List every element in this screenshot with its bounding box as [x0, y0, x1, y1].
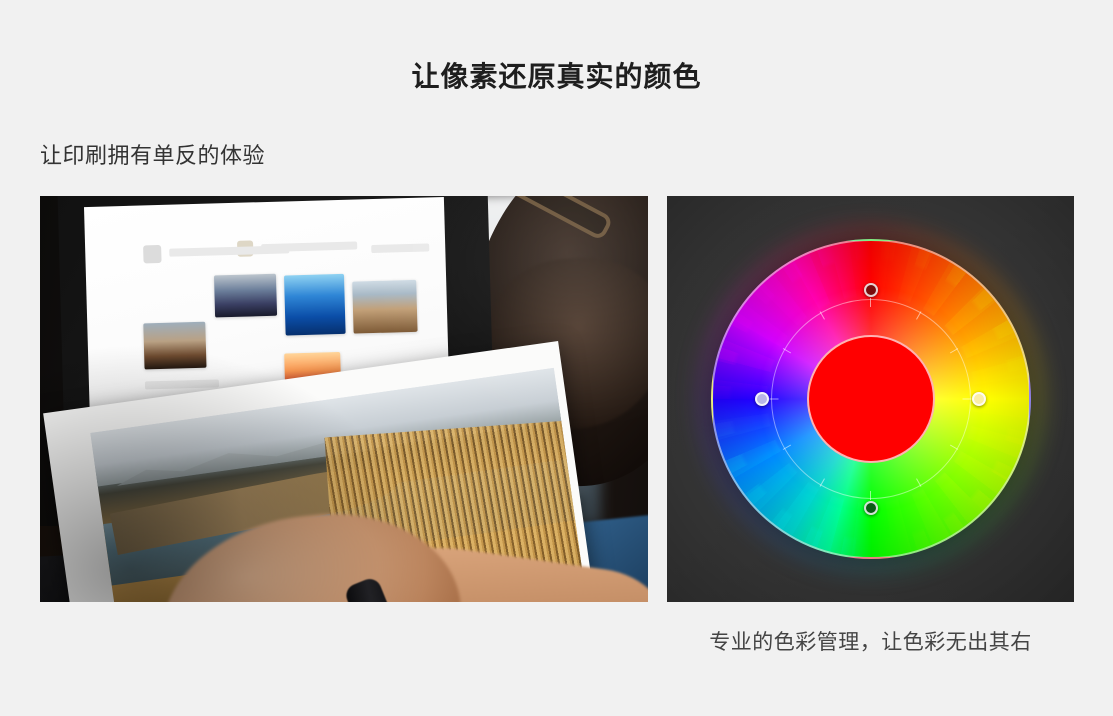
color-wheel-panel [667, 196, 1074, 602]
page-root: 让像素还原真实的颜色 让印刷拥有单反的体验 [0, 0, 1113, 716]
screen-text-line [261, 241, 357, 252]
color-wheel-tick [871, 399, 971, 400]
screen-icon-left [143, 245, 161, 263]
color-wheel-tick [870, 299, 871, 399]
screen-thumbnail [143, 322, 206, 370]
screen-text-line [371, 243, 429, 253]
screen-thumbnail [214, 274, 277, 318]
marker-bottom[interactable] [864, 501, 878, 515]
color-wheel-tick [771, 399, 871, 400]
color-wheel-tick [870, 399, 871, 499]
screen-thumbnail [352, 280, 417, 334]
photo-desk-print-comparison [40, 196, 648, 602]
screen-thumbnail [284, 274, 346, 336]
screen-text-line [145, 379, 219, 389]
marker-right[interactable] [972, 392, 986, 406]
page-subtitle: 让印刷拥有单反的体验 [40, 140, 265, 172]
page-title: 让像素还原真实的颜色 [0, 57, 1113, 97]
color-wheel-caption: 专业的色彩管理，让色彩无出其右 [667, 628, 1074, 658]
color-wheel[interactable] [711, 239, 1031, 559]
